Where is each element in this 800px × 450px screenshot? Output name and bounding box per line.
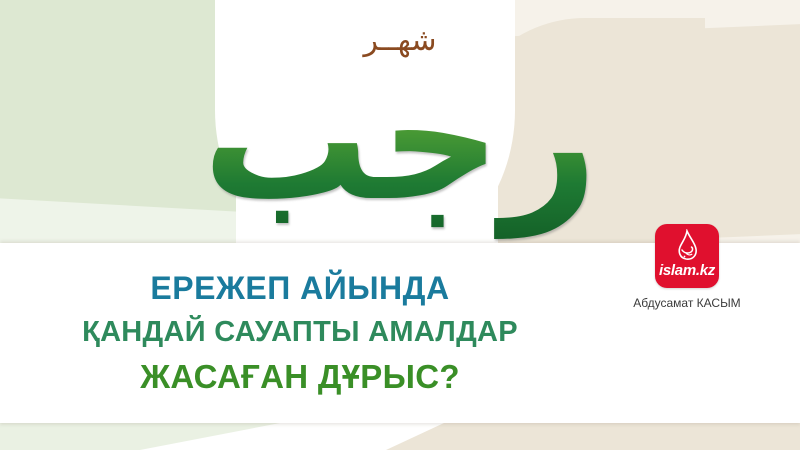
headline-line-2: ҚАНДАЙ САУАПТЫ АМАЛДАР: [82, 310, 518, 354]
headline-group: ЕРЕЖЕП АЙЫНДА ҚАНДАЙ САУАПТЫ АМАЛДАР ЖАС…: [0, 243, 600, 423]
islam-kz-flame-calligraphy-icon: [655, 229, 719, 263]
brand-block[interactable]: islam.kz Абдусамат КАСЫМ: [612, 224, 762, 311]
islam-kz-logo[interactable]: islam.kz: [655, 224, 719, 288]
calligraphy-main-rajab: رجب: [0, 40, 800, 240]
islamic-month-banner: شهــر رجب ЕРЕЖЕП АЙЫНДА ҚАНДАЙ САУАПТЫ А…: [0, 0, 800, 450]
headline-line-1: ЕРЕЖЕП АЙЫНДА: [150, 266, 449, 310]
author-name: Абдусамат КАСЫМ: [612, 295, 762, 311]
headline-line-3: ЖАСАҒАН ДҰРЫС?: [140, 354, 460, 400]
bottom-strip: [0, 423, 800, 450]
bottom-strip-beige: [386, 423, 800, 450]
bottom-strip-green: [0, 423, 280, 450]
islam-kz-logo-wordmark: islam.kz: [655, 263, 719, 279]
arabic-calligraphy: شهــر رجب: [0, 0, 800, 243]
